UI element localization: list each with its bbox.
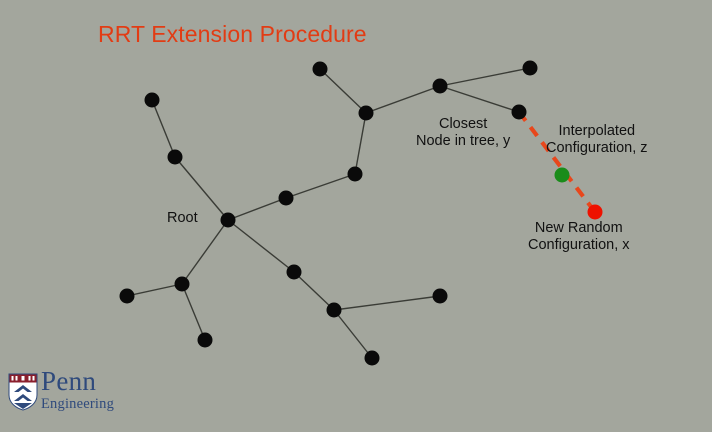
label-closest-line1: Closest xyxy=(416,116,510,133)
tree-edge xyxy=(334,310,372,358)
tree-node-closest-y xyxy=(512,105,527,120)
tree-node xyxy=(175,277,190,292)
tree-edge xyxy=(355,113,366,174)
label-interpolated-config: Interpolated Configuration, z xyxy=(546,123,648,157)
tree-edge xyxy=(334,296,440,310)
penn-wordmark: Penn Engineering xyxy=(41,368,114,412)
tree-node xyxy=(348,167,363,182)
tree-node xyxy=(120,289,135,304)
label-closest-node: Closest Node in tree, y xyxy=(416,116,510,150)
interpolated-config-point xyxy=(555,168,570,183)
label-new-random-line2: Configuration, x xyxy=(528,237,630,254)
tree-node xyxy=(365,351,380,366)
slide-canvas: RRT Extension Procedure Root Closest Nod… xyxy=(0,0,712,432)
tree-edge xyxy=(320,69,366,113)
penn-wordmark-subtitle: Engineering xyxy=(41,396,114,412)
tree-edge xyxy=(294,272,334,310)
label-interpolated-line2: Configuration, z xyxy=(546,140,648,157)
label-closest-line2: Node in tree, y xyxy=(416,133,510,150)
tree-edge xyxy=(182,284,205,340)
tree-node xyxy=(198,333,213,348)
tree-edge xyxy=(440,86,519,112)
tree-edge xyxy=(440,68,530,86)
tree-edge xyxy=(366,86,440,113)
tree-node xyxy=(359,106,374,121)
tree-edge xyxy=(182,220,228,284)
label-new-random-line1: New Random xyxy=(528,220,630,237)
tree-node xyxy=(168,150,183,165)
tree-edge xyxy=(127,284,182,296)
tree-node xyxy=(433,289,448,304)
tree-node xyxy=(523,61,538,76)
tree-node xyxy=(287,265,302,280)
tree-edge xyxy=(286,174,355,198)
tree-node-root xyxy=(221,213,236,228)
penn-wordmark-name: Penn xyxy=(41,368,114,395)
tree-edge xyxy=(152,100,175,157)
tree-node xyxy=(433,79,448,94)
tree-node xyxy=(145,93,160,108)
penn-engineering-logo: Penn Engineering xyxy=(8,371,150,421)
tree-edge xyxy=(228,198,286,220)
label-new-random-config: New Random Configuration, x xyxy=(528,220,630,254)
tree-node xyxy=(327,303,342,318)
tree-node xyxy=(279,191,294,206)
penn-shield-icon xyxy=(8,373,38,411)
label-root: Root xyxy=(167,210,198,227)
random-config-point xyxy=(588,205,603,220)
tree-edge xyxy=(228,220,294,272)
tree-node xyxy=(313,62,328,77)
label-interpolated-line1: Interpolated xyxy=(546,123,648,140)
